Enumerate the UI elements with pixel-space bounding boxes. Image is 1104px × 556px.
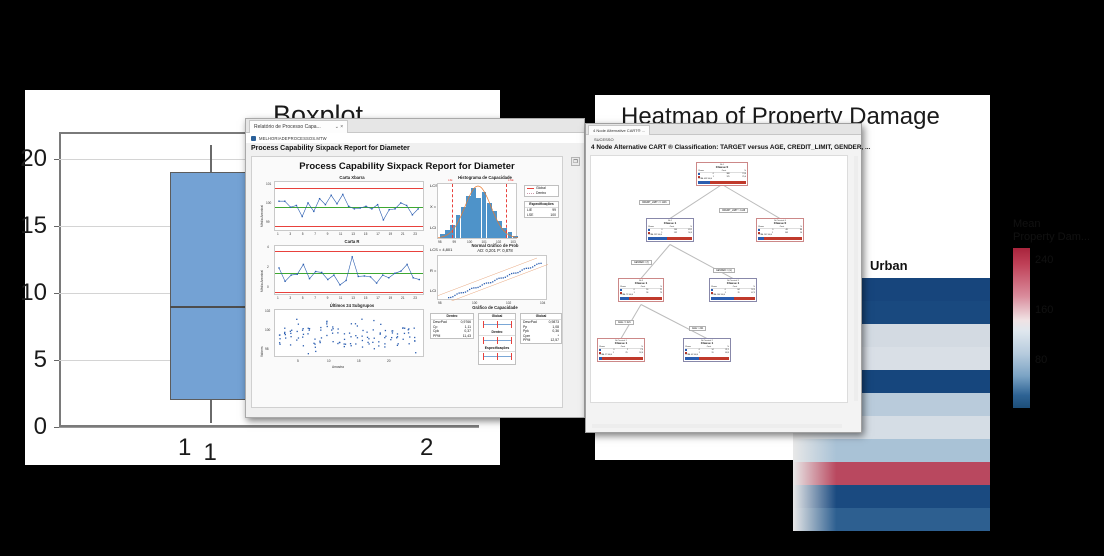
legend-row: Dentro xyxy=(525,191,558,196)
axis-tick: 7 xyxy=(314,232,316,236)
spec-name: LSE xyxy=(527,213,533,218)
band-marker xyxy=(511,353,512,360)
axis-tick: 21 xyxy=(401,232,405,236)
boxplot-x-tick-label: 1 xyxy=(190,439,230,467)
cart-col-header: % xyxy=(800,226,802,228)
axis-tick: 5 xyxy=(297,359,299,363)
series-line xyxy=(275,182,425,232)
cart-col-header: Classe xyxy=(620,286,626,288)
series-line xyxy=(275,246,425,296)
cart-col-header: Cont. xyxy=(733,286,738,288)
axis-tick: 15 xyxy=(357,359,361,363)
legend-tick: 80 xyxy=(1035,354,1047,366)
cart-col-header: Classe xyxy=(648,226,654,228)
cart-node[interactable]: Nó 1Classe 0ClasseCont.%036874,6112525,4… xyxy=(696,162,748,186)
cart-col-header: % xyxy=(727,346,729,348)
boxplot-box xyxy=(170,172,250,400)
band-marker xyxy=(511,321,512,328)
cart-col-header: % xyxy=(690,226,692,228)
histogram-plot xyxy=(437,183,517,239)
legend-color-bar xyxy=(1013,248,1030,408)
sixpack-title: Process Capability Sixpack Report for Di… xyxy=(252,161,562,172)
cart-window[interactable]: 4 Node Alternative CART® ... SUCESSO 4 N… xyxy=(585,123,862,433)
probplot-subtitle: AD: 0,201 P: 0,878 xyxy=(430,248,560,253)
axis-tick: 9 xyxy=(327,296,329,300)
legend-swatch xyxy=(527,193,534,194)
cart-col-header: Classe xyxy=(685,346,691,348)
cart-col-header: Cont. xyxy=(641,286,646,288)
boxplot-y-ticklet xyxy=(54,360,59,361)
runchart-plot xyxy=(274,309,424,357)
band-marker xyxy=(483,353,484,360)
cart-col-header: % xyxy=(660,286,662,288)
cart-split-label: AGE > 221 xyxy=(689,326,706,331)
boxplot-y-tick: 20 xyxy=(20,145,47,173)
tree-edge xyxy=(722,184,780,219)
cart-node-total: TOTAL 261 100,0 xyxy=(758,234,802,236)
axis-tick: 7 xyxy=(314,296,316,300)
cart-col-header: Classe xyxy=(698,170,704,172)
axis-tick: 5 xyxy=(302,232,304,236)
cart-split-label: GENDER = (f) xyxy=(631,260,652,265)
cart-node-total: TOTAL 45 100,0 xyxy=(685,354,729,356)
legend-tick: 160 xyxy=(1035,304,1053,316)
histogram-usl-mark: LSE xyxy=(508,178,514,182)
cart-col-header: Cont. xyxy=(670,226,675,228)
band-marker xyxy=(511,337,512,344)
tree-edge xyxy=(670,244,733,279)
cart-col-header: Cont. xyxy=(707,346,712,348)
axis-tick: 13 xyxy=(351,232,355,236)
axis-tick: 3 xyxy=(289,296,291,300)
restore-icon[interactable]: ❐ xyxy=(571,157,580,166)
cart-col-header: Cont. xyxy=(722,170,727,172)
cart-col-header: Classe xyxy=(711,286,717,288)
cart-node-total: TOTAL 72 100,0 xyxy=(620,294,662,296)
cart-cell: 68,9 xyxy=(725,352,729,354)
cart-node[interactable]: Nó Terminal 1Classe 1ClasseCont.%027,412… xyxy=(597,338,645,362)
cart-node-total: TOTAL 232 100,0 xyxy=(648,234,692,236)
cart-tree-canvas: Nó 1Classe 0ClasseCont.%036874,6112525,4… xyxy=(590,155,848,403)
cart-node[interactable]: Nó Terminal 2Classe 1ClasseCont.%01431,1… xyxy=(683,338,731,362)
cart-split-label: GENDER = (m) xyxy=(713,268,735,273)
axis-tick: 20 xyxy=(387,359,391,363)
boxplot-gridline xyxy=(59,427,479,428)
cart-node-total: TOTAL 27 100,0 xyxy=(599,354,643,356)
cart-bar-class0 xyxy=(620,297,629,300)
stat-row: PPM12,57 xyxy=(521,338,561,343)
cart-cell: 1 xyxy=(699,352,700,354)
legend-title-line2: Property Dam... xyxy=(1013,231,1101,244)
axis-tick: 0 xyxy=(267,285,269,289)
minitab-tab-strip: Relatório de Processo Capa... ⌄ × xyxy=(246,119,584,133)
stat-value: 11,43 xyxy=(463,334,471,339)
axis-tick: 4 xyxy=(267,245,269,249)
cart-split-label: CREDIT_LIMIT > 1146 xyxy=(719,208,748,213)
cart-cell: 56,9 xyxy=(688,232,692,234)
cart-cell: 79 xyxy=(660,292,662,294)
axis-tick: 1 xyxy=(277,232,279,236)
minitab-file-bar: MELHORIADEPROCESSOS.MTW xyxy=(246,133,584,143)
heatmap-cell xyxy=(793,439,990,462)
cart-cell: 47,5 xyxy=(751,292,755,294)
heatmap-cell xyxy=(793,508,990,531)
capability-band xyxy=(479,352,515,362)
cart-node-bar xyxy=(648,237,692,240)
cart-split-label: CREDIT_LIMIT <= 1146 xyxy=(639,200,670,205)
minitab-tab-label: Relatório de Processo Capa... xyxy=(254,121,321,134)
runchart-x-axis-label: Amostra xyxy=(332,365,344,369)
cart-bar-class1 xyxy=(734,297,755,300)
stat-row: PPM11,43 xyxy=(431,334,473,339)
axis-tick: 2 xyxy=(267,265,269,269)
minitab-report-heading: Process Capability Sixpack Report for Di… xyxy=(251,145,410,152)
cart-cell: 125 xyxy=(726,176,729,178)
axis-tick: 17 xyxy=(376,232,380,236)
cart-cell: 31 xyxy=(711,352,713,354)
cart-vertical-scrollbar[interactable] xyxy=(854,156,858,401)
legend-label: Dentro xyxy=(536,191,546,196)
cart-node-bar xyxy=(698,181,746,184)
heatmap-column-label: Urban xyxy=(870,258,908,273)
cart-bar-class1 xyxy=(710,181,746,184)
minitab-report-canvas: Process Capability Sixpack Report for Di… xyxy=(251,156,563,408)
cart-cell: 1 xyxy=(613,352,614,354)
boxplot-y-tick: 15 xyxy=(20,212,47,240)
histogram-spec-box: EspecificaçõesLIE99LSE100 xyxy=(524,201,559,218)
worksheet-icon xyxy=(251,136,256,141)
minitab-file-name: MELHORIADEPROCESSOS.MTW xyxy=(259,136,327,141)
cart-bar-class1 xyxy=(629,297,662,300)
axis-tick: 11 xyxy=(339,232,342,236)
runchart-title: Últimos 24 Subgrupos xyxy=(272,303,432,308)
cart-cell: 1 xyxy=(634,292,635,294)
axis-tick: 15 xyxy=(364,296,368,300)
capability-overall-box: GlobalDesvPad0,9873Pp1,08Ppk0,36Cpm*PPM1… xyxy=(520,313,562,344)
band-marker xyxy=(497,337,498,344)
boxplot-y-ticklet xyxy=(54,226,59,227)
cart-node-total: TOTAL 160 100,0 xyxy=(711,294,755,296)
axis-tick: 10 xyxy=(327,359,331,363)
axis-tick: 13 xyxy=(351,296,355,300)
cart-cell: 1 xyxy=(713,176,714,178)
band-marker xyxy=(497,321,498,328)
xbar-y-axis-label: Média Amostral xyxy=(260,205,264,227)
stat-name: PPM xyxy=(523,338,530,343)
tree-edge xyxy=(670,184,723,219)
cart-cell: 92,6 xyxy=(639,352,643,354)
heatmap-cell xyxy=(793,462,990,485)
cart-horizontal-scrollbar[interactable] xyxy=(592,424,842,428)
band-marker xyxy=(483,321,484,328)
spec-value: 100 xyxy=(550,213,556,218)
cart-node-bar xyxy=(620,297,662,300)
cart-col-header: Cont. xyxy=(780,226,785,228)
cart-col-header: % xyxy=(744,170,746,172)
cart-bar-class0 xyxy=(685,357,699,360)
cart-bar-class0 xyxy=(711,297,734,300)
spec-limit-line xyxy=(452,184,453,238)
axis-tick: 15 xyxy=(364,232,368,236)
scatter-series xyxy=(275,310,425,358)
legend-title: Mean Property Dam... xyxy=(1013,218,1101,244)
cart-bar-class1 xyxy=(602,357,643,360)
spec-limit-line xyxy=(506,184,507,238)
capability-bands-box: GlobalDentroEspecificações xyxy=(478,313,516,365)
stat-value: 12,57 xyxy=(551,338,560,343)
cart-col-header: % xyxy=(753,286,755,288)
boxplot-y-ticklet xyxy=(54,293,59,294)
cart-cell: 76 xyxy=(737,292,739,294)
heatmap-cell xyxy=(793,485,990,508)
axis-tick: 102 xyxy=(265,309,270,313)
axis-tick: 98 xyxy=(265,347,269,351)
cart-cell: 56 xyxy=(646,292,648,294)
minitab-tab[interactable]: Relatório de Processo Capa... ⌄ × xyxy=(249,120,348,133)
cart-node-bar xyxy=(758,237,802,240)
stat-name: PPM xyxy=(433,334,440,339)
cart-bar-class1 xyxy=(667,237,692,240)
cart-node-bar xyxy=(711,297,755,300)
cart-node-bar xyxy=(599,357,643,360)
axis-tick: 21 xyxy=(401,296,405,300)
axis-tick: 101 xyxy=(266,182,271,186)
axis-tick: 1 xyxy=(277,296,279,300)
legend-tick: 240 xyxy=(1035,254,1053,266)
boxplot-whisker xyxy=(210,400,212,423)
panel-number-2: 2 xyxy=(420,434,433,462)
axis-tick: 5 xyxy=(302,296,304,300)
xbar-chart-plot xyxy=(274,181,424,231)
cart-col-header: Classe xyxy=(758,226,764,228)
probability-series xyxy=(438,256,548,301)
r-y-axis-label: Média Amostral xyxy=(260,270,264,292)
cart-node-bar xyxy=(685,357,729,360)
cart-bar-class0 xyxy=(698,181,710,184)
boxplot-y-ticklet xyxy=(54,159,59,160)
close-icon[interactable]: ⌄ × xyxy=(335,121,344,134)
cart-cell: 132 xyxy=(674,232,677,234)
cart-cell: 145 xyxy=(785,232,788,234)
cart-cell: 25 xyxy=(625,352,627,354)
cart-bar-class1 xyxy=(764,237,802,240)
cart-bar-class1 xyxy=(699,357,729,360)
axis-tick: 100 xyxy=(266,201,271,205)
boxplot-y-tick: 5 xyxy=(34,346,47,374)
cart-col-header: Cont. xyxy=(621,346,626,348)
histogram-legend: GlobalDentro xyxy=(524,185,559,197)
cart-col-header: Classe xyxy=(599,346,605,348)
boxplot-y-tick: 10 xyxy=(20,279,47,307)
band-marker xyxy=(497,353,498,360)
cart-cell: 14 xyxy=(800,232,802,234)
cart-cell: 25,4 xyxy=(742,176,746,178)
capability-title: Gráfico de Capacidade xyxy=(430,305,560,310)
cart-node-total: TOTAL 493 100,0 xyxy=(698,178,746,180)
boxplot-median-line xyxy=(170,306,250,308)
histogram-lsl-mark: LIE xyxy=(448,178,453,182)
cart-heading: 4 Node Alternative CART ® Classification… xyxy=(591,144,870,151)
axis-tick: 19 xyxy=(389,232,393,236)
axis-tick: 100 xyxy=(265,328,270,332)
histogram-title: Histograma de Capacidade xyxy=(430,175,540,180)
cart-tab[interactable]: 4 Node Alternative CART® ... xyxy=(588,125,650,135)
capability-band xyxy=(479,320,515,330)
boxplot-whisker xyxy=(210,145,212,172)
cart-col-header: % xyxy=(641,346,643,348)
screenshot-stage: Boxplot 05101520 1 Heatmap of Property D… xyxy=(0,0,1104,556)
cart-node[interactable]: Nó Terminal 4Classe 0ClasseCont.%0488611… xyxy=(756,218,804,242)
probplot-plot xyxy=(437,255,547,300)
tree-edge xyxy=(641,304,707,339)
axis-tick: 9 xyxy=(327,232,329,236)
runchart-y-axis-label: Valores xyxy=(260,346,264,357)
axis-tick: 99 xyxy=(266,220,270,224)
r-chart-title: Carta R xyxy=(272,239,432,244)
band-marker xyxy=(483,337,484,344)
cart-split-label: AGE <= 221 xyxy=(615,320,634,325)
axis-tick: 11 xyxy=(339,296,342,300)
panel-number-1: 1 xyxy=(178,434,191,462)
cart-breadcrumb: SUCESSO xyxy=(594,137,614,142)
axis-tick: 23 xyxy=(413,296,417,300)
xbar-chart-title: Carta Xbarra xyxy=(272,175,432,180)
capability-within-box: DentroDesvPad0,9766Cp1,11Cpk0,37PPM11,43 xyxy=(430,313,474,339)
capability-band xyxy=(479,336,515,346)
spec-row: LSE100 xyxy=(525,213,558,218)
cart-node[interactable]: Nó Terminal 3Classe 1ClasseCont.%08452,5… xyxy=(709,278,757,302)
legend-title-line1: Mean xyxy=(1013,218,1101,231)
cart-node[interactable]: Nó 3Classe 1ClasseCont.%0162115679TOTAL … xyxy=(618,278,664,302)
minitab-window[interactable]: Relatório de Processo Capa... ⌄ × MELHOR… xyxy=(245,118,585,418)
cart-node[interactable]: Nó 2Classe 1ClasseCont.%010043,1113256,9… xyxy=(646,218,694,242)
axis-tick: 19 xyxy=(389,296,393,300)
minitab-vertical-scrollbar[interactable] xyxy=(579,169,583,404)
legend-swatch xyxy=(527,188,534,189)
boxplot-y-tick: 0 xyxy=(34,413,47,441)
cart-tab-strip: 4 Node Alternative CART® ... xyxy=(586,124,861,135)
r-chart-plot xyxy=(274,245,424,295)
axis-tick: 23 xyxy=(413,232,417,236)
boxplot-y-ticklet xyxy=(54,427,59,428)
heatmap-legend: Mean Property Dam... 24016080 xyxy=(1013,218,1101,244)
axis-tick: 17 xyxy=(376,296,380,300)
cart-bar-class0 xyxy=(648,237,667,240)
axis-tick: 3 xyxy=(289,232,291,236)
